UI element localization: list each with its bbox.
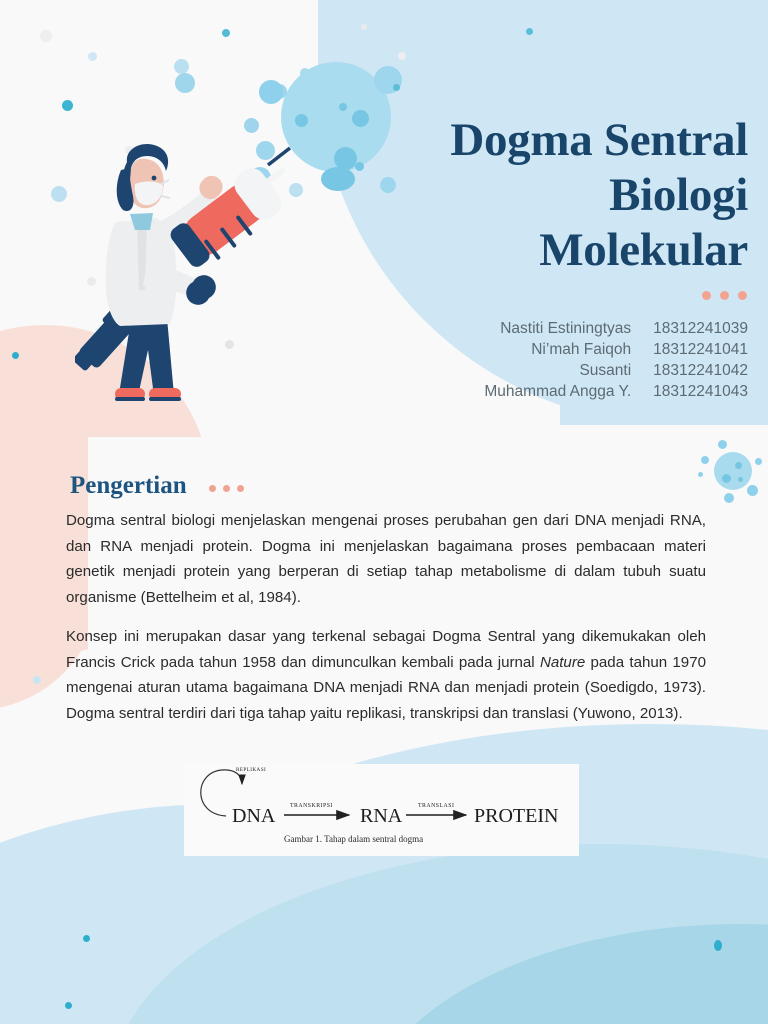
author-list: Nastiti Estiningtyas 18312241039 Ni’mah … — [484, 318, 748, 402]
decor-dot — [51, 186, 67, 202]
page-title: Dogma Sentral Biologi Molekular — [450, 113, 748, 278]
diagram-node-rna: RNA — [360, 805, 403, 827]
decor-dot — [46, 917, 60, 933]
title-line-3: Molekular — [450, 223, 748, 278]
author-id: 18312241042 — [653, 360, 748, 381]
decor-dot — [398, 52, 406, 60]
decor-dot — [88, 52, 97, 61]
author-id: 18312241043 — [653, 381, 748, 402]
journal-name: Nature — [540, 654, 585, 671]
decor-dot — [289, 183, 303, 197]
title-dot-1 — [702, 291, 711, 300]
author-name: Muhammad Angga Y. — [484, 381, 631, 402]
decor-dot — [40, 30, 52, 42]
decor-dot — [244, 118, 259, 133]
bottom-right-ribbon — [630, 845, 768, 890]
diagram-label-replikasi: REPLIKASI — [236, 767, 266, 773]
title-line-2: Biologi — [450, 168, 748, 223]
paragraph-1: Dogma sentral biologi menjelaskan mengen… — [66, 508, 706, 610]
diagram-caption: Gambar 1. Tahap dalam sentral dogma — [284, 834, 423, 844]
decor-dot — [174, 59, 189, 74]
wave-shape-inner — [360, 924, 768, 1024]
decor-dot — [374, 66, 402, 94]
decor-dot — [714, 940, 722, 951]
author-id: 18312241039 — [653, 318, 748, 339]
diagram-node-protein: PROTEIN — [474, 805, 558, 827]
title-dot-2 — [720, 291, 729, 300]
decor-dot — [33, 676, 41, 684]
title-decor-dots — [702, 291, 747, 300]
decor-dot — [125, 146, 133, 154]
decor-dot — [87, 277, 96, 286]
decor-dot — [12, 352, 19, 359]
virus-illustration-large — [281, 62, 391, 172]
author-name: Susanti — [484, 360, 631, 381]
virus-illustration-small — [714, 452, 752, 490]
decor-dot — [175, 73, 195, 93]
author-name: Ni’mah Faiqoh — [484, 339, 631, 360]
section-dot-1 — [209, 485, 216, 492]
author-name: Nastiti Estiningtyas — [484, 318, 631, 339]
decor-dot — [65, 1002, 72, 1009]
wave-shape-mid — [110, 844, 768, 1024]
section-dot-2 — [223, 485, 230, 492]
decor-dot — [83, 935, 90, 942]
decor-dot — [225, 340, 234, 349]
paragraph-2: Konsep ini merupakan dasar yang terkenal… — [66, 624, 706, 726]
decor-dot — [62, 100, 73, 111]
section-title: Pengertian — [70, 472, 187, 500]
diagram-label-transkripsi: TRANSKRIPSI — [290, 803, 333, 809]
diagram-node-dna: DNA — [232, 805, 276, 827]
decor-dot — [361, 24, 367, 30]
section-header: Pengertian — [70, 472, 244, 500]
decor-dot — [249, 167, 271, 189]
decor-dot — [300, 68, 310, 78]
central-dogma-diagram: REPLIKASI DNA RNA PROTEIN TRANSKRIPSI TR… — [184, 764, 579, 856]
section-decor-dots — [209, 485, 244, 492]
slide-page: Dogma Sentral Biologi Molekular Nastiti … — [0, 0, 768, 1024]
diagram-label-translasi: TRANSLASI — [418, 803, 454, 809]
section-body: Dogma sentral biologi menjelaskan mengen… — [66, 508, 706, 740]
decor-dot — [393, 84, 400, 91]
scientist-with-syringe-illustration — [75, 140, 300, 405]
central-dogma-svg: REPLIKASI DNA RNA PROTEIN TRANSKRIPSI TR… — [184, 764, 579, 856]
author-id: 18312241041 — [653, 339, 748, 360]
decor-dot — [526, 28, 533, 35]
section-dot-3 — [237, 485, 244, 492]
title-dot-3 — [738, 291, 747, 300]
title-line-1: Dogma Sentral — [450, 113, 748, 168]
decor-dot — [222, 29, 230, 37]
